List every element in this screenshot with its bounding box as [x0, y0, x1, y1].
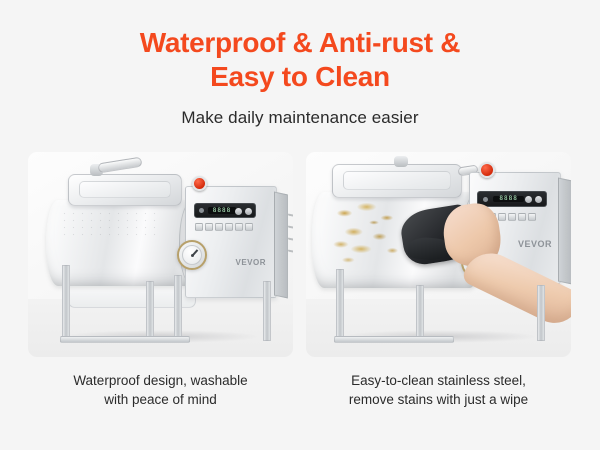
- machine-lid: [68, 174, 182, 206]
- machine-leg: [336, 269, 344, 341]
- machine-leg: [62, 265, 70, 341]
- display-panel: 8888: [477, 191, 547, 207]
- control-key[interactable]: [528, 213, 536, 221]
- vent-slot-icon: [288, 249, 293, 253]
- lid-inner-panel: [343, 171, 451, 190]
- control-key[interactable]: [245, 223, 253, 231]
- base-rail: [60, 336, 190, 343]
- lid-handle: [97, 157, 142, 174]
- header-block: Waterproof & Anti-rust & Easy to Clean M…: [0, 0, 600, 128]
- control-key[interactable]: [215, 223, 223, 231]
- vent-slot-icon: [288, 237, 293, 241]
- control-key[interactable]: [235, 223, 243, 231]
- brand-logo: VEVOR: [518, 239, 552, 249]
- control-key[interactable]: [518, 213, 526, 221]
- lid-hinge-knob: [394, 156, 408, 167]
- panel-round-button[interactable]: [235, 208, 242, 215]
- product-photo-waterproof: 8888 VEVOR: [28, 152, 293, 357]
- feature-card-easy-to-clean: 8888 VEVOR: [306, 152, 571, 409]
- digital-readout: 8888: [493, 196, 524, 203]
- control-key[interactable]: [508, 213, 516, 221]
- marinator-machine: 8888 VEVOR: [306, 152, 571, 357]
- control-box-side: [274, 192, 288, 299]
- power-indicator-icon: [199, 208, 204, 213]
- brand-logo: VEVOR: [235, 258, 266, 267]
- vent-slot-icon: [288, 225, 293, 229]
- panel-round-button[interactable]: [535, 196, 542, 203]
- control-key[interactable]: [225, 223, 233, 231]
- control-box-side: [558, 178, 571, 285]
- control-key[interactable]: [205, 223, 213, 231]
- gauge-face: [182, 245, 202, 265]
- drum-texture: [60, 210, 156, 236]
- feature-card-row: 8888 VEVOR: [28, 152, 572, 409]
- machine-leg: [263, 281, 271, 341]
- base-rail: [334, 336, 454, 343]
- caption-line-1: Easy-to-clean stainless steel,: [306, 371, 571, 390]
- machine-leg: [174, 275, 182, 341]
- card-caption-waterproof: Waterproof design, washable with peace o…: [28, 371, 293, 409]
- cloth-fold: [407, 236, 449, 261]
- marinator-machine: 8888 VEVOR: [28, 152, 293, 357]
- power-indicator-icon: [483, 197, 488, 202]
- lid-inner-panel: [79, 181, 171, 198]
- caption-line-2: with peace of mind: [28, 390, 293, 409]
- vent-slot-icon: [288, 213, 293, 217]
- display-panel: 8888: [194, 203, 256, 218]
- card-caption-easy-to-clean: Easy-to-clean stainless steel, remove st…: [306, 371, 571, 409]
- product-photo-easy-to-clean: 8888 VEVOR: [306, 152, 571, 357]
- caption-line-2: remove stains with just a wipe: [306, 390, 571, 409]
- feature-card-waterproof: 8888 VEVOR: [28, 152, 293, 409]
- emergency-stop-button[interactable]: [479, 162, 495, 178]
- pressure-gauge: [177, 240, 207, 270]
- headline-line-1: Waterproof & Anti-rust &: [0, 26, 600, 60]
- machine-lid: [332, 164, 462, 198]
- control-key-row: [195, 223, 253, 231]
- control-key[interactable]: [498, 213, 506, 221]
- machine-leg: [416, 285, 424, 341]
- page-subtitle: Make daily maintenance easier: [0, 108, 600, 128]
- headline-line-2: Easy to Clean: [0, 60, 600, 94]
- panel-round-button[interactable]: [245, 208, 252, 215]
- gauge-hub: [191, 254, 194, 257]
- caption-line-1: Waterproof design, washable: [28, 371, 293, 390]
- machine-leg: [146, 281, 154, 341]
- digital-readout: 8888: [208, 207, 236, 213]
- panel-round-button[interactable]: [525, 196, 532, 203]
- page-headline: Waterproof & Anti-rust & Easy to Clean: [0, 26, 600, 95]
- control-key[interactable]: [195, 223, 203, 231]
- machine-leg: [537, 285, 545, 341]
- emergency-stop-button[interactable]: [192, 176, 207, 191]
